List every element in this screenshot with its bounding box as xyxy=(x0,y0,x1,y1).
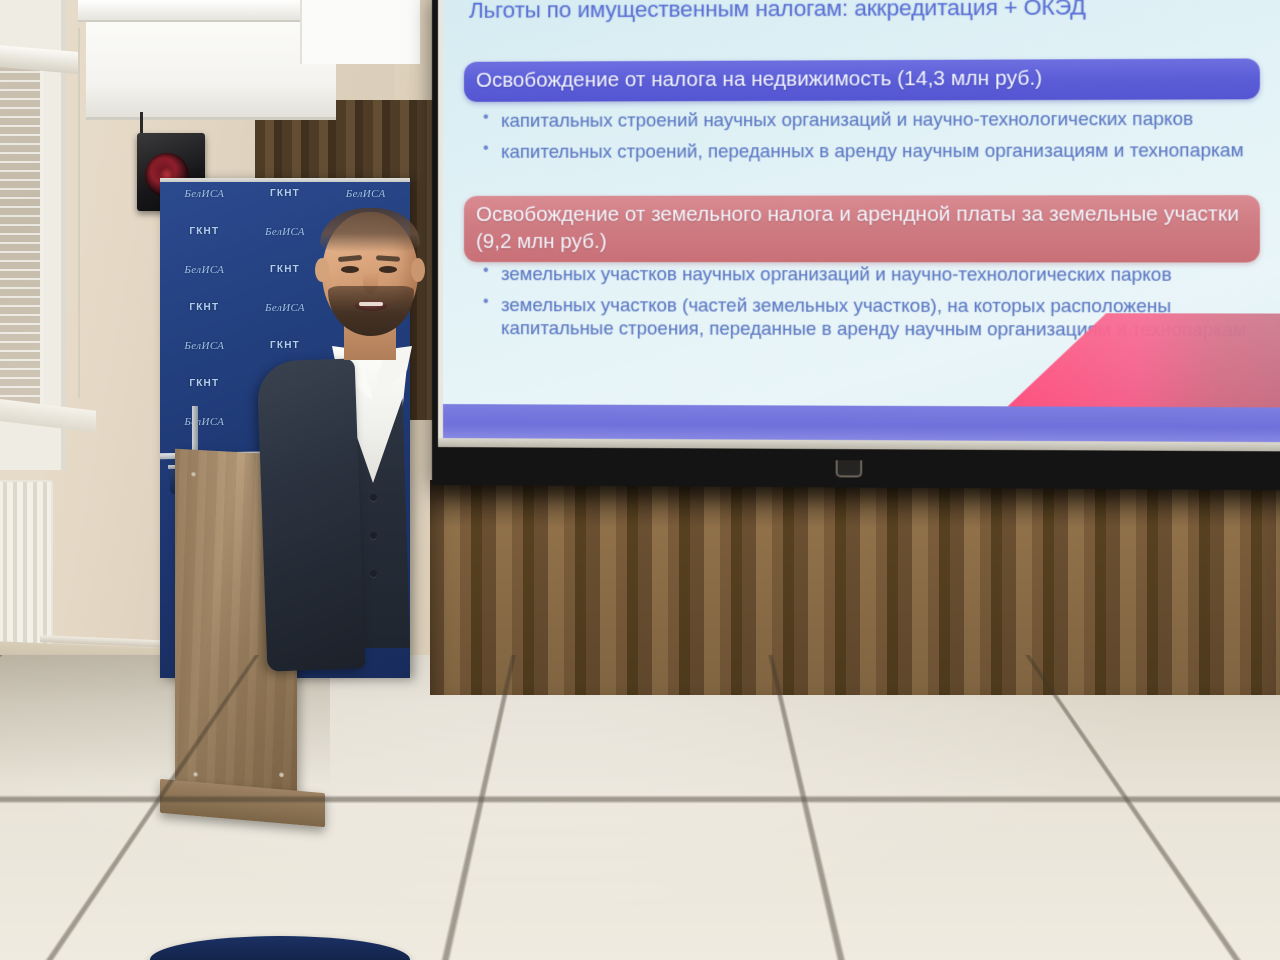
slide-heading-property-tax: Освобождение от налога на недвижимость (… xyxy=(464,58,1260,101)
banner-logo-belisa: БелИСА xyxy=(164,188,245,200)
radiator xyxy=(0,480,53,660)
presenter xyxy=(236,200,566,960)
slide-heading-land-tax: Освобождение от земельного налога и арен… xyxy=(464,195,1260,263)
slide-content: Льготы по имущественным налогам: аккреди… xyxy=(443,0,1280,444)
list-item: капитальных строений научных организаций… xyxy=(479,106,1268,132)
presenter-eye-right xyxy=(379,266,397,273)
banner-logo-gknt: ГКНТ xyxy=(164,378,245,390)
projector-screen-housing xyxy=(300,0,420,64)
banner-logo-gknt: ГКНТ xyxy=(164,302,245,314)
banner-logo-belisa: БелИСА xyxy=(164,340,245,352)
presenter-jacket-left xyxy=(257,358,366,671)
screen-hook xyxy=(836,460,863,477)
presenter-ear-left xyxy=(315,258,329,282)
blind-cord xyxy=(78,28,80,398)
podium-screw xyxy=(191,472,196,477)
list-item: земельных участков научных организаций и… xyxy=(479,262,1268,287)
banner-logo-gknt: ГКНТ xyxy=(164,226,245,238)
window-glass xyxy=(0,60,44,410)
vest-button xyxy=(370,570,377,577)
presenter-mouth xyxy=(355,300,387,311)
presenter-beard xyxy=(328,286,414,336)
banner-logo-gknt: ГКНТ xyxy=(245,188,326,200)
vest-button xyxy=(370,532,377,539)
presenter-jacket-right xyxy=(388,358,496,678)
banner-logo-belisa: БелИСА xyxy=(164,264,245,276)
slide-bullets-property-tax: капитальных строений научных организаций… xyxy=(479,106,1268,170)
window-blinds xyxy=(0,64,40,406)
podium-screw xyxy=(193,772,198,777)
vest-button xyxy=(370,494,377,501)
banner-logo-belisa: БелИСА xyxy=(325,188,406,200)
presenter-ear-right xyxy=(411,258,425,282)
banner-logo-belisa: БелИСА xyxy=(164,416,245,428)
list-item: капительных строений, переданных в аренд… xyxy=(479,138,1268,164)
presenter-hair xyxy=(320,208,420,252)
presentation-room-photo: БелИСАГКНТБелИСАГКНТБелИСАГКНТБелИСАГКНТ… xyxy=(0,0,1280,960)
presenter-eye-left xyxy=(341,266,359,273)
slide-title: Льготы по имущественным налогам: аккреди… xyxy=(469,0,1277,24)
